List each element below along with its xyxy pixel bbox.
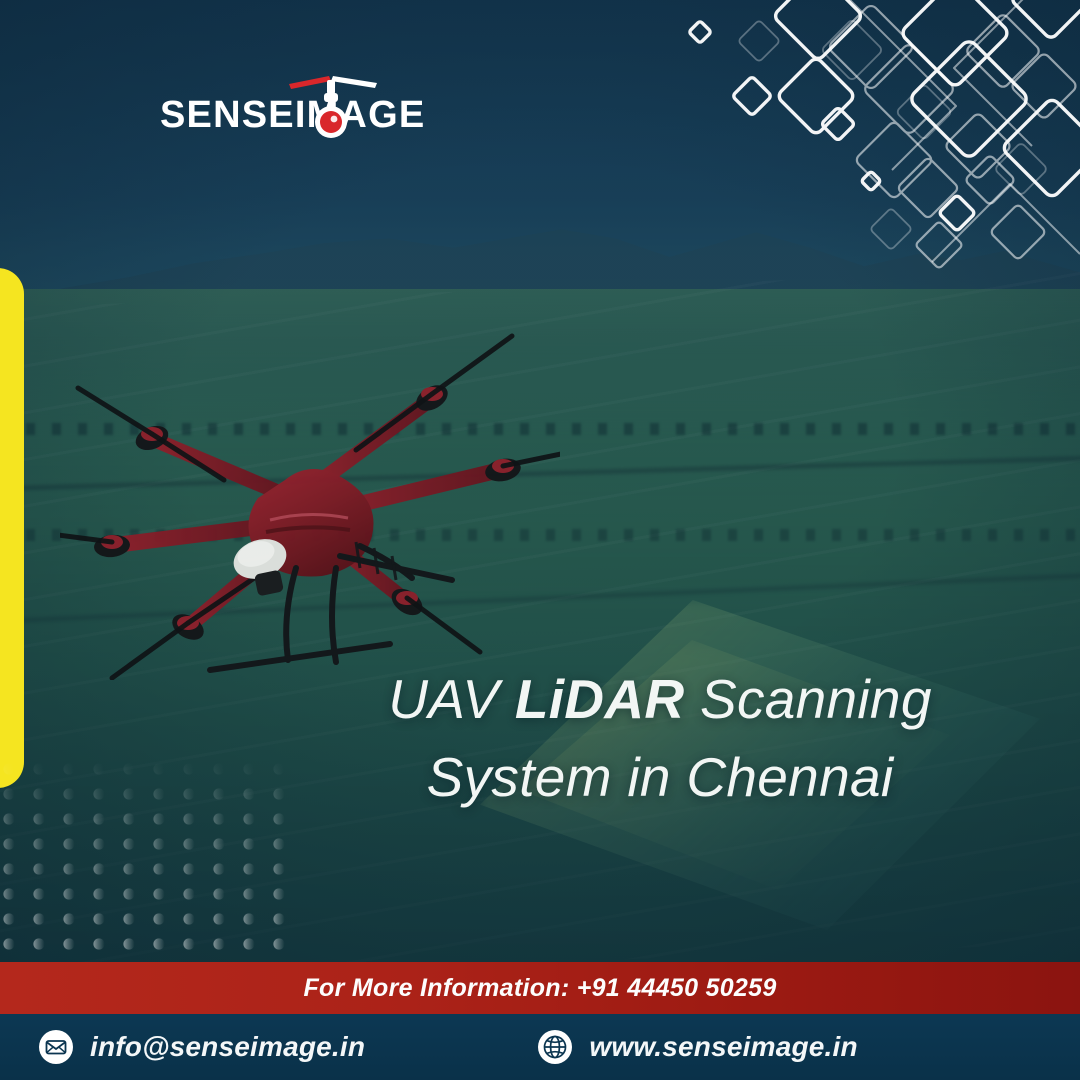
headline-line1-post: Scanning bbox=[684, 668, 931, 730]
yellow-accent-tab bbox=[0, 268, 24, 788]
envelope-icon bbox=[38, 1029, 74, 1065]
page-title: UAV LiDAR Scanning System in Chennai bbox=[310, 660, 1010, 816]
contact-footer: info@senseimage.in www.senseimage.in bbox=[0, 1014, 1080, 1080]
info-bar: For More Information: +91 44450 50259 bbox=[0, 962, 1080, 1014]
drone-propeller-camera-icon bbox=[285, 68, 381, 144]
footer-website-text: www.senseimage.in bbox=[589, 1031, 857, 1063]
headline-line1-pre: UAV bbox=[388, 668, 515, 730]
footer-website[interactable]: www.senseimage.in bbox=[537, 1029, 857, 1065]
info-bar-text: For More Information: +91 44450 50259 bbox=[303, 974, 776, 1003]
footer-email[interactable]: info@senseimage.in bbox=[38, 1029, 365, 1065]
footer-email-text: info@senseimage.in bbox=[90, 1031, 365, 1063]
brand-logo[interactable]: SENSEIMAGE bbox=[160, 72, 480, 144]
promo-poster: SENSEIMAGE UAV LiDAR Scanning System in … bbox=[0, 0, 1080, 1080]
headline-line2: System in Chennai bbox=[427, 746, 894, 808]
uav-hexacopter-drone bbox=[60, 330, 560, 680]
headline-lidar-word: LiDAR bbox=[515, 668, 685, 730]
globe-icon bbox=[537, 1029, 573, 1065]
